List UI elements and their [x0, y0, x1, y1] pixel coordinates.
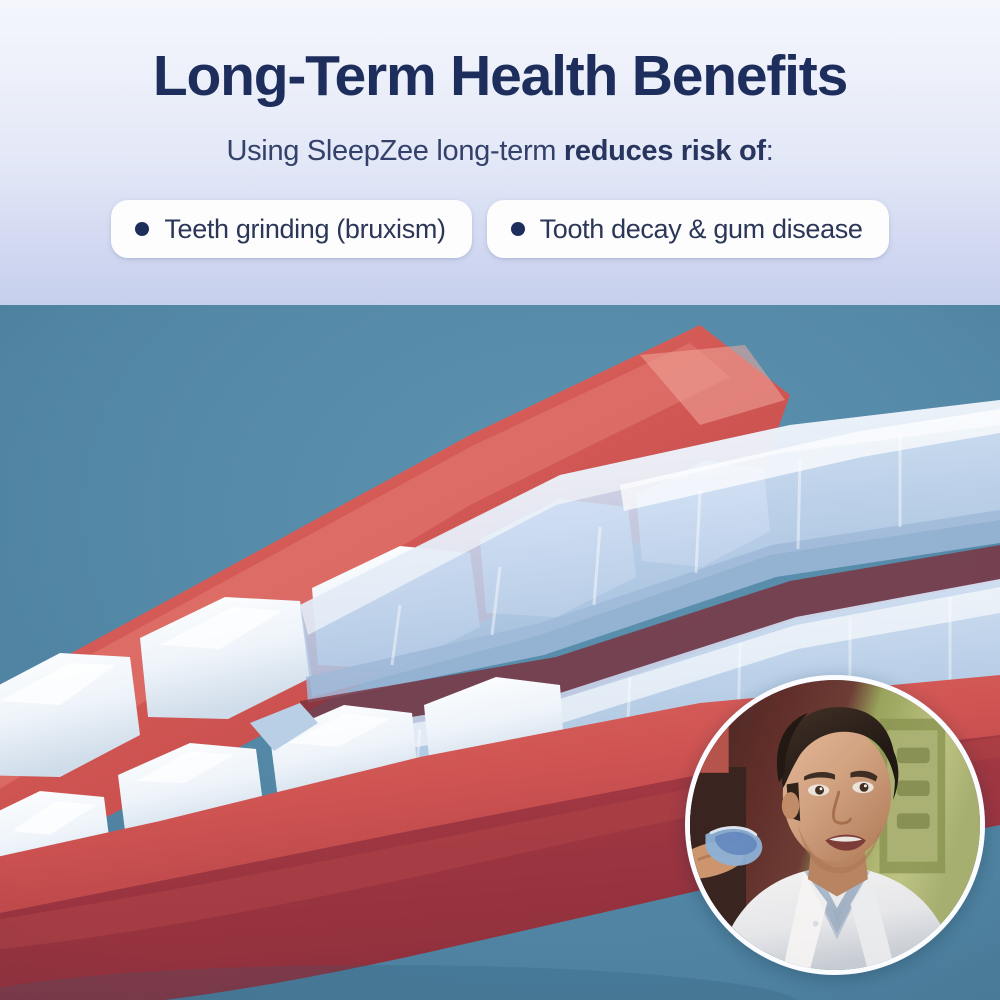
- subtitle: Using SleepZee long-term reduces risk of…: [0, 134, 1000, 169]
- bullet-dot-icon: [511, 222, 525, 236]
- benefit-pill-label: Teeth grinding (bruxism): [164, 214, 445, 245]
- page-title: Long-Term Health Benefits: [0, 47, 1000, 107]
- promo-card: Long-Term Health Benefits Using SleepZee…: [0, 0, 1000, 1000]
- doctor-portrait-inset[interactable]: [685, 675, 985, 975]
- dental-model-photo: [0, 305, 1000, 1000]
- benefit-pill-label: Tooth decay & gum disease: [540, 214, 863, 245]
- benefit-pill-row: Teeth grinding (bruxism) Tooth decay & g…: [0, 200, 1000, 258]
- subtitle-lead: Using SleepZee long-term: [226, 135, 563, 167]
- subtitle-emphasis: reduces risk of: [564, 135, 766, 167]
- doctor-portrait-image: [690, 680, 980, 970]
- bullet-dot-icon: [135, 222, 149, 236]
- benefit-pill-tooth-decay[interactable]: Tooth decay & gum disease: [487, 200, 889, 258]
- benefit-pill-bruxism[interactable]: Teeth grinding (bruxism): [111, 200, 471, 258]
- subtitle-tail: :: [766, 135, 774, 167]
- header-panel: Long-Term Health Benefits Using SleepZee…: [0, 0, 1000, 305]
